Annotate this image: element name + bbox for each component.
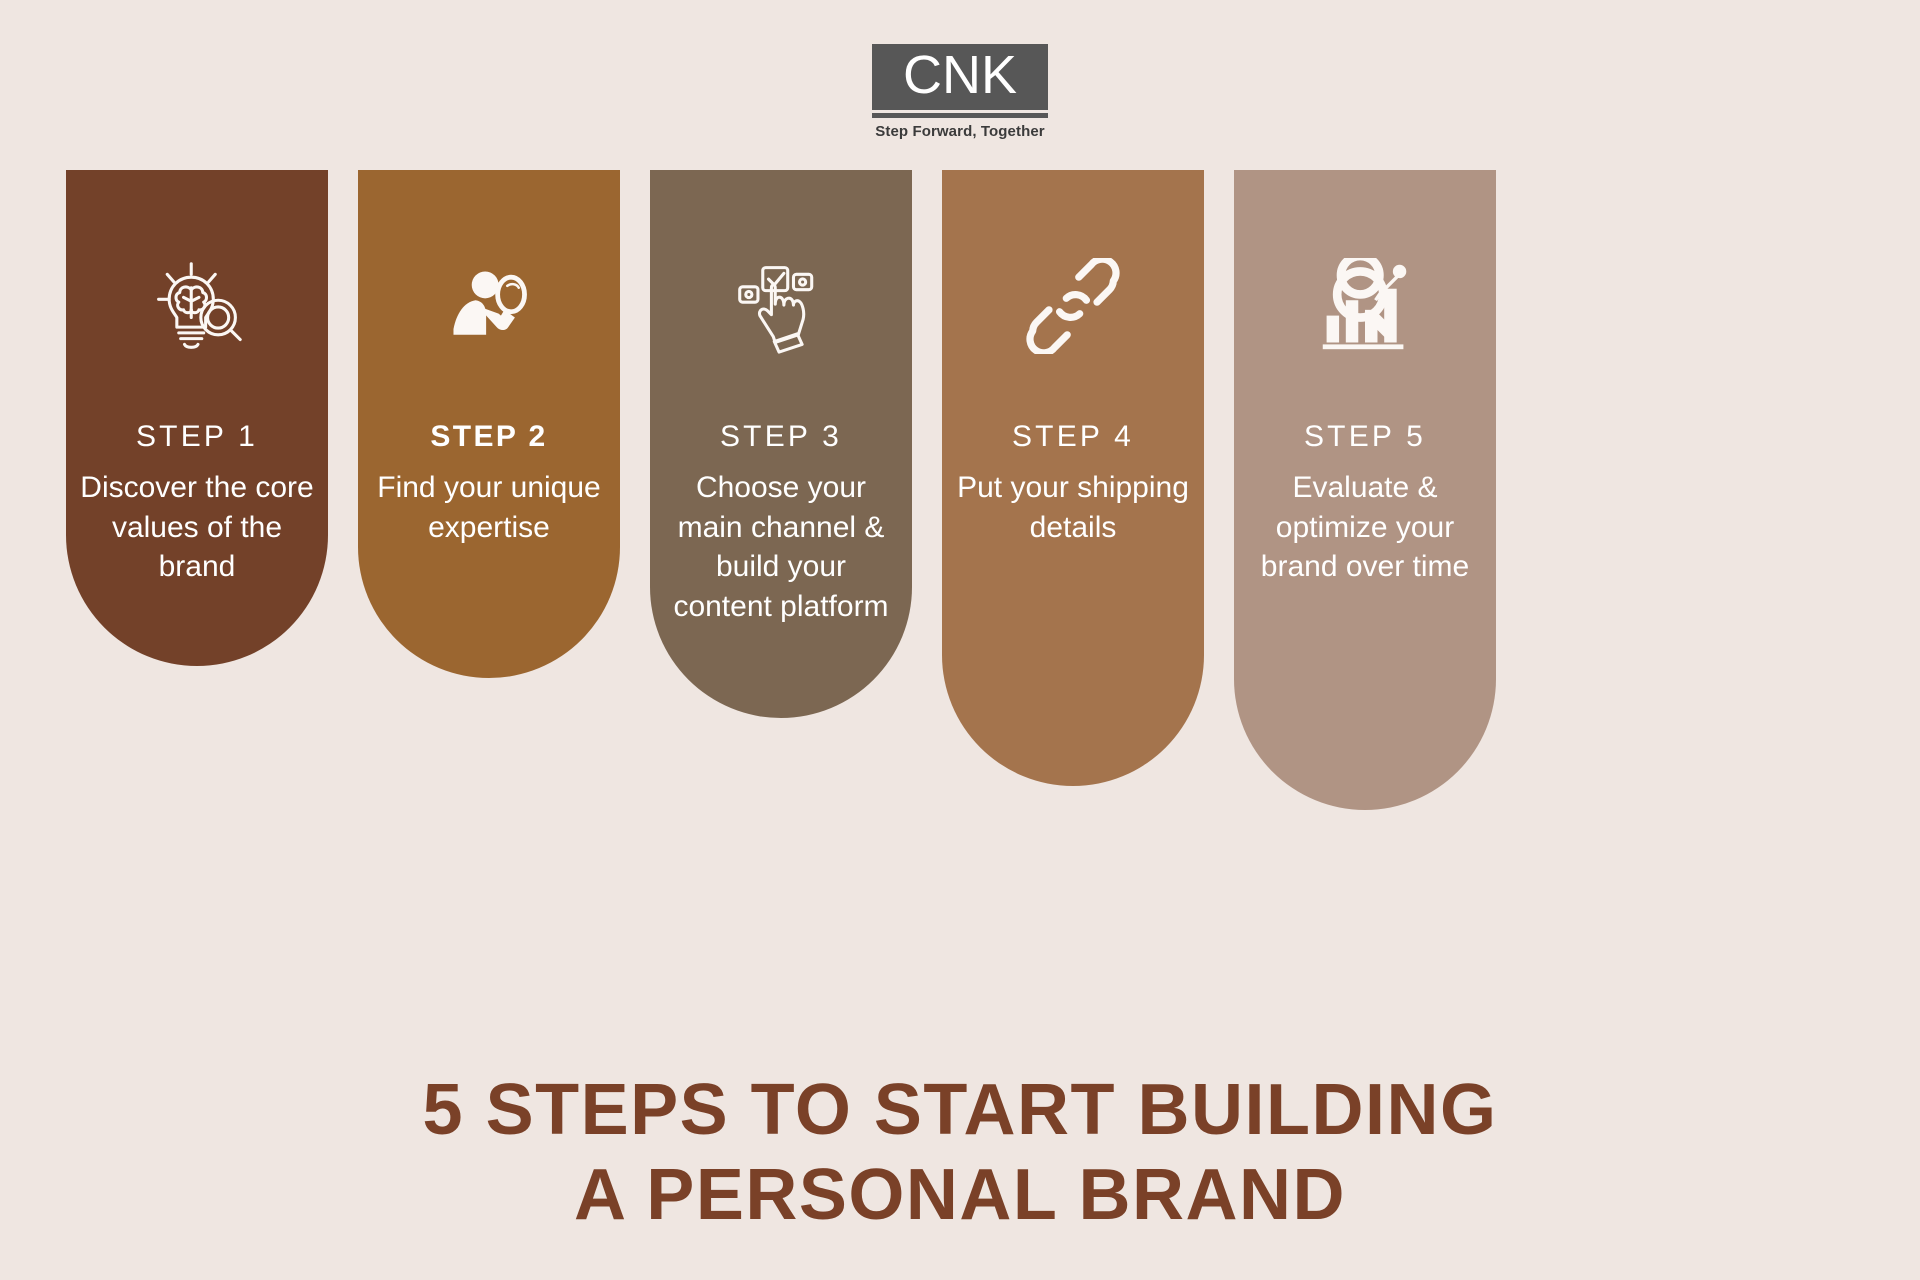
chain-link-icon (1025, 258, 1121, 354)
brand-logo: CNK Step Forward, Together (0, 44, 1920, 140)
step-label-4: STEP 4 (1012, 420, 1134, 454)
step-label-2: STEP 2 (430, 420, 547, 454)
chart-magnifier-analytics-icon (1317, 258, 1413, 354)
logo-box: CNK (872, 44, 1048, 110)
step-description-1: Discover the core values of the brand (66, 468, 328, 587)
step-card-4[interactable]: STEP 4 Put your shipping details (942, 170, 1204, 786)
lightbulb-brain-magnifier-icon (149, 258, 245, 354)
step-description-3: Choose your main channel & build your co… (650, 468, 912, 626)
step-card-5[interactable]: STEP 5 Evaluate & optimize your brand ov… (1234, 170, 1496, 810)
logo-tagline: Step Forward, Together (875, 123, 1044, 140)
logo-wordmark: CNK (903, 48, 1017, 106)
page-title-line-1: 5 STEPS TO START BUILDING (0, 1068, 1920, 1153)
step-label-1: STEP 1 (136, 420, 258, 454)
person-magnifier-icon (441, 258, 537, 354)
step-card-3[interactable]: STEP 3 Choose your main channel & build … (650, 170, 912, 718)
page-title-line-2: A PERSONAL BRAND (0, 1153, 1920, 1238)
hand-select-checkbox-icon (733, 258, 829, 354)
step-card-2[interactable]: STEP 2 Find your unique expertise (358, 170, 620, 678)
step-card-1[interactable]: STEP 1 Discover the core values of the b… (66, 170, 328, 666)
logo-divider (872, 113, 1048, 118)
step-description-4: Put your shipping details (942, 468, 1204, 547)
step-label-3: STEP 3 (720, 420, 842, 454)
step-label-5: STEP 5 (1304, 420, 1426, 454)
step-description-5: Evaluate & optimize your brand over time (1234, 468, 1496, 587)
page-title: 5 STEPS TO START BUILDING A PERSONAL BRA… (0, 1068, 1920, 1238)
steps-row: STEP 1 Discover the core values of the b… (66, 170, 1858, 810)
step-description-2: Find your unique expertise (358, 468, 620, 547)
